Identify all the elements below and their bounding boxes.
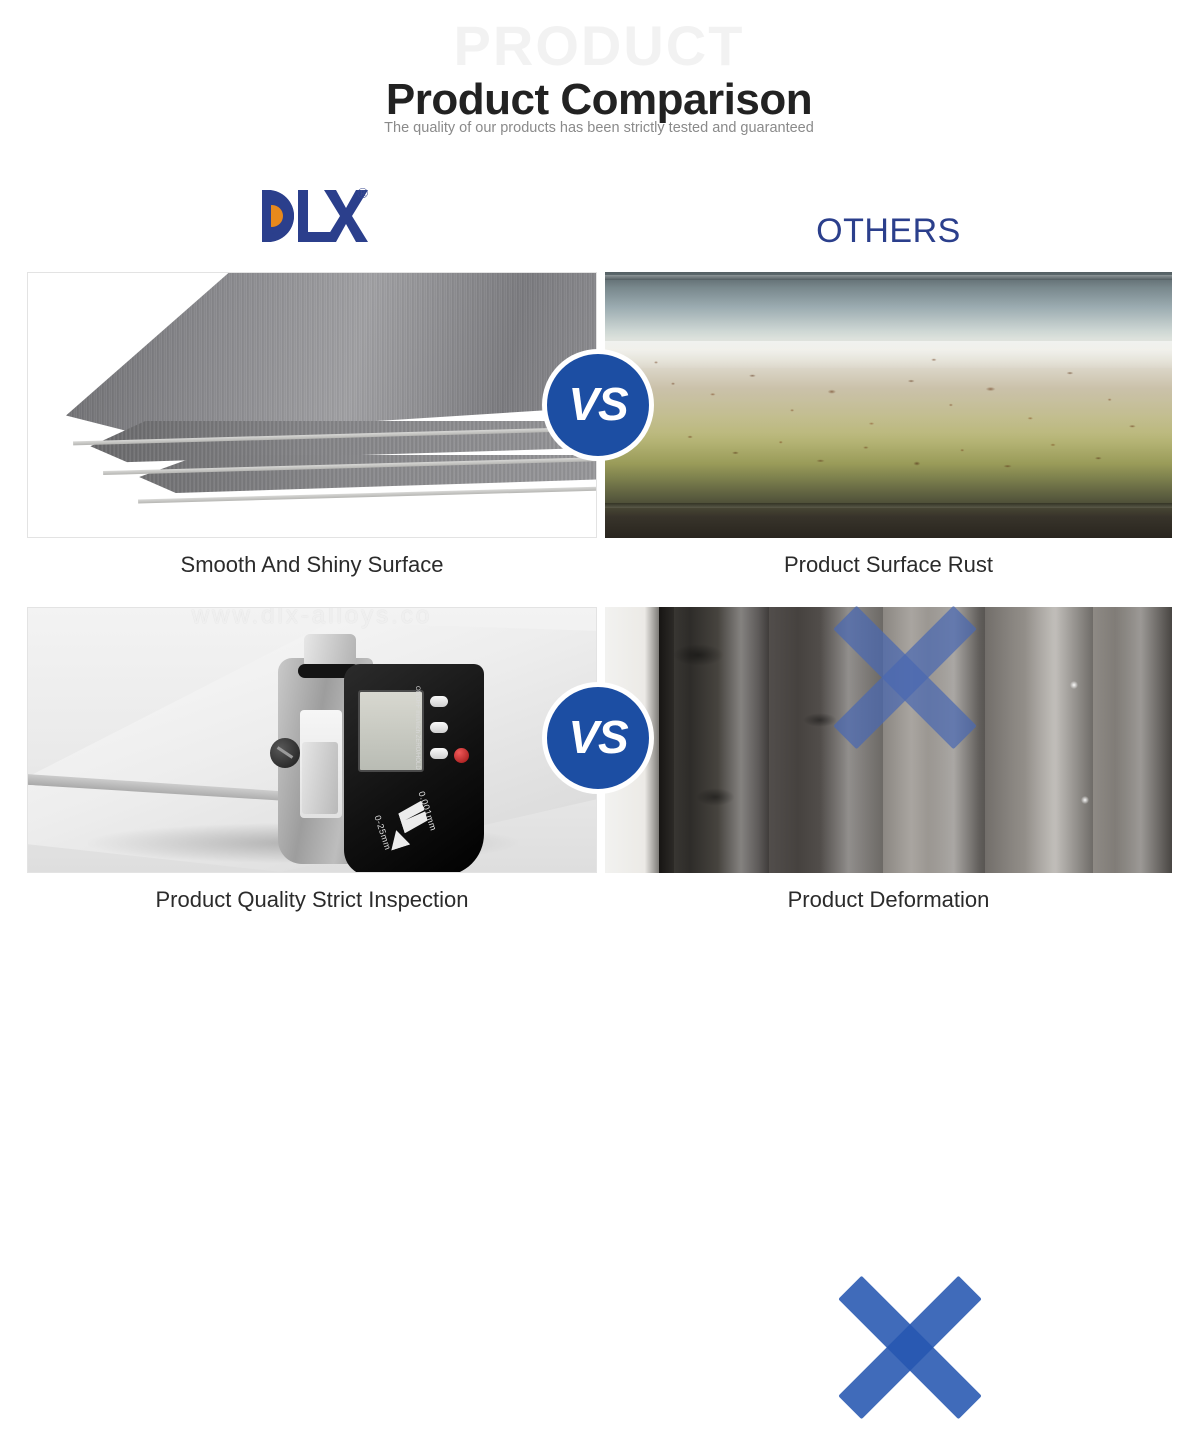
vs-badge-label-2: VS [568, 714, 627, 760]
panel-blemish-3 [803, 713, 837, 726]
pipe-seam-top [605, 275, 1172, 280]
panel-wave-4 [1025, 607, 1093, 873]
micrometer-inspection-photo: 0.798 ON/OFF mm/inch ZERO/HOLD 0.001mm 0… [28, 608, 596, 872]
comparison-2-our-image[interactable]: 0.798 ON/OFF mm/inch ZERO/HOLD 0.001mm 0… [27, 607, 597, 873]
micrometer-button-unit[interactable] [430, 722, 448, 733]
comparison-2-other-cell: Product Deformation [605, 607, 1172, 913]
page-subtitle: The quality of our products has been str… [0, 120, 1198, 136]
vs-badge-row-1: VS [542, 349, 654, 461]
micrometer-range-label: 0-25mm [372, 814, 393, 851]
others-label: OTHERS [605, 212, 1172, 251]
header-watermark-text: PRODUCT [0, 18, 1198, 74]
pipe-sheen [605, 272, 1172, 538]
comparison-1-other-caption: Product Surface Rust [605, 552, 1172, 578]
micrometer-reading: 0.798 [358, 698, 363, 766]
comparison-1-other-image[interactable] [605, 272, 1172, 538]
panel-wave-2 [820, 607, 882, 873]
image-watermark-url: www.dlx-alloys.co [28, 608, 596, 630]
x-bar-2a [838, 1276, 982, 1420]
x-bar-2b [838, 1276, 982, 1420]
micrometer-button-power[interactable] [430, 696, 448, 707]
micrometer-lock-screw [270, 738, 300, 768]
comparison-1-our-caption: Smooth And Shiny Surface [27, 552, 597, 578]
page-title: Product Comparison [0, 76, 1198, 124]
panel-wave-1 [718, 607, 769, 873]
vs-badge-row-2: VS [542, 682, 654, 794]
deformed-panels-photo [605, 607, 1172, 873]
pipe-seam-bottom [605, 503, 1172, 508]
comparison-1-our-image[interactable] [27, 272, 597, 538]
comparison-1-our-cell: Smooth And Shiny Surface [27, 272, 597, 578]
product-comparison-page: PRODUCT Product Comparison The quality o… [0, 0, 1198, 951]
panel-blemish-2 [696, 788, 736, 807]
panel-blemish-1 [673, 644, 724, 665]
steel-sheet-top [66, 272, 597, 439]
comparison-2-our-caption: Product Quality Strict Inspection [27, 887, 597, 913]
panel-dark-seam [659, 607, 674, 873]
dlx-logo-icon [262, 178, 372, 250]
micrometer-button-hold[interactable] [454, 748, 469, 763]
vs-badge-label-1: VS [568, 381, 627, 427]
comparison-2-other-image[interactable] [605, 607, 1172, 873]
digital-micrometer: 0.798 ON/OFF mm/inch ZERO/HOLD 0.001mm 0… [278, 642, 488, 872]
reject-x-icon-2 [825, 1262, 995, 1432]
micrometer-anvil [302, 742, 338, 814]
comparison-1-other-cell: Product Surface Rust [605, 272, 1172, 578]
panel-wave-5 [1115, 607, 1172, 873]
page-header: PRODUCT Product Comparison The quality o… [0, 0, 1198, 160]
registered-trademark-icon: ® [357, 186, 368, 203]
company-logo: ® [262, 178, 382, 256]
micrometer-display-head: 0.798 ON/OFF mm/inch ZERO/HOLD 0.001mm 0… [344, 664, 484, 872]
micrometer-thimble [304, 634, 356, 668]
rusted-pipe-photo [605, 272, 1172, 538]
micrometer-button-zero[interactable] [430, 748, 448, 759]
stacked-steel-sheets-photo [28, 273, 596, 537]
comparison-2-other-caption: Product Deformation [605, 887, 1172, 913]
brand-row: ® OTHERS [0, 170, 1198, 260]
comparison-2-our-cell: 0.798 ON/OFF mm/inch ZERO/HOLD 0.001mm 0… [27, 607, 597, 913]
panel-wave-3 [928, 607, 985, 873]
micrometer-button-labels: ON/OFF mm/inch ZERO/HOLD [414, 686, 420, 770]
